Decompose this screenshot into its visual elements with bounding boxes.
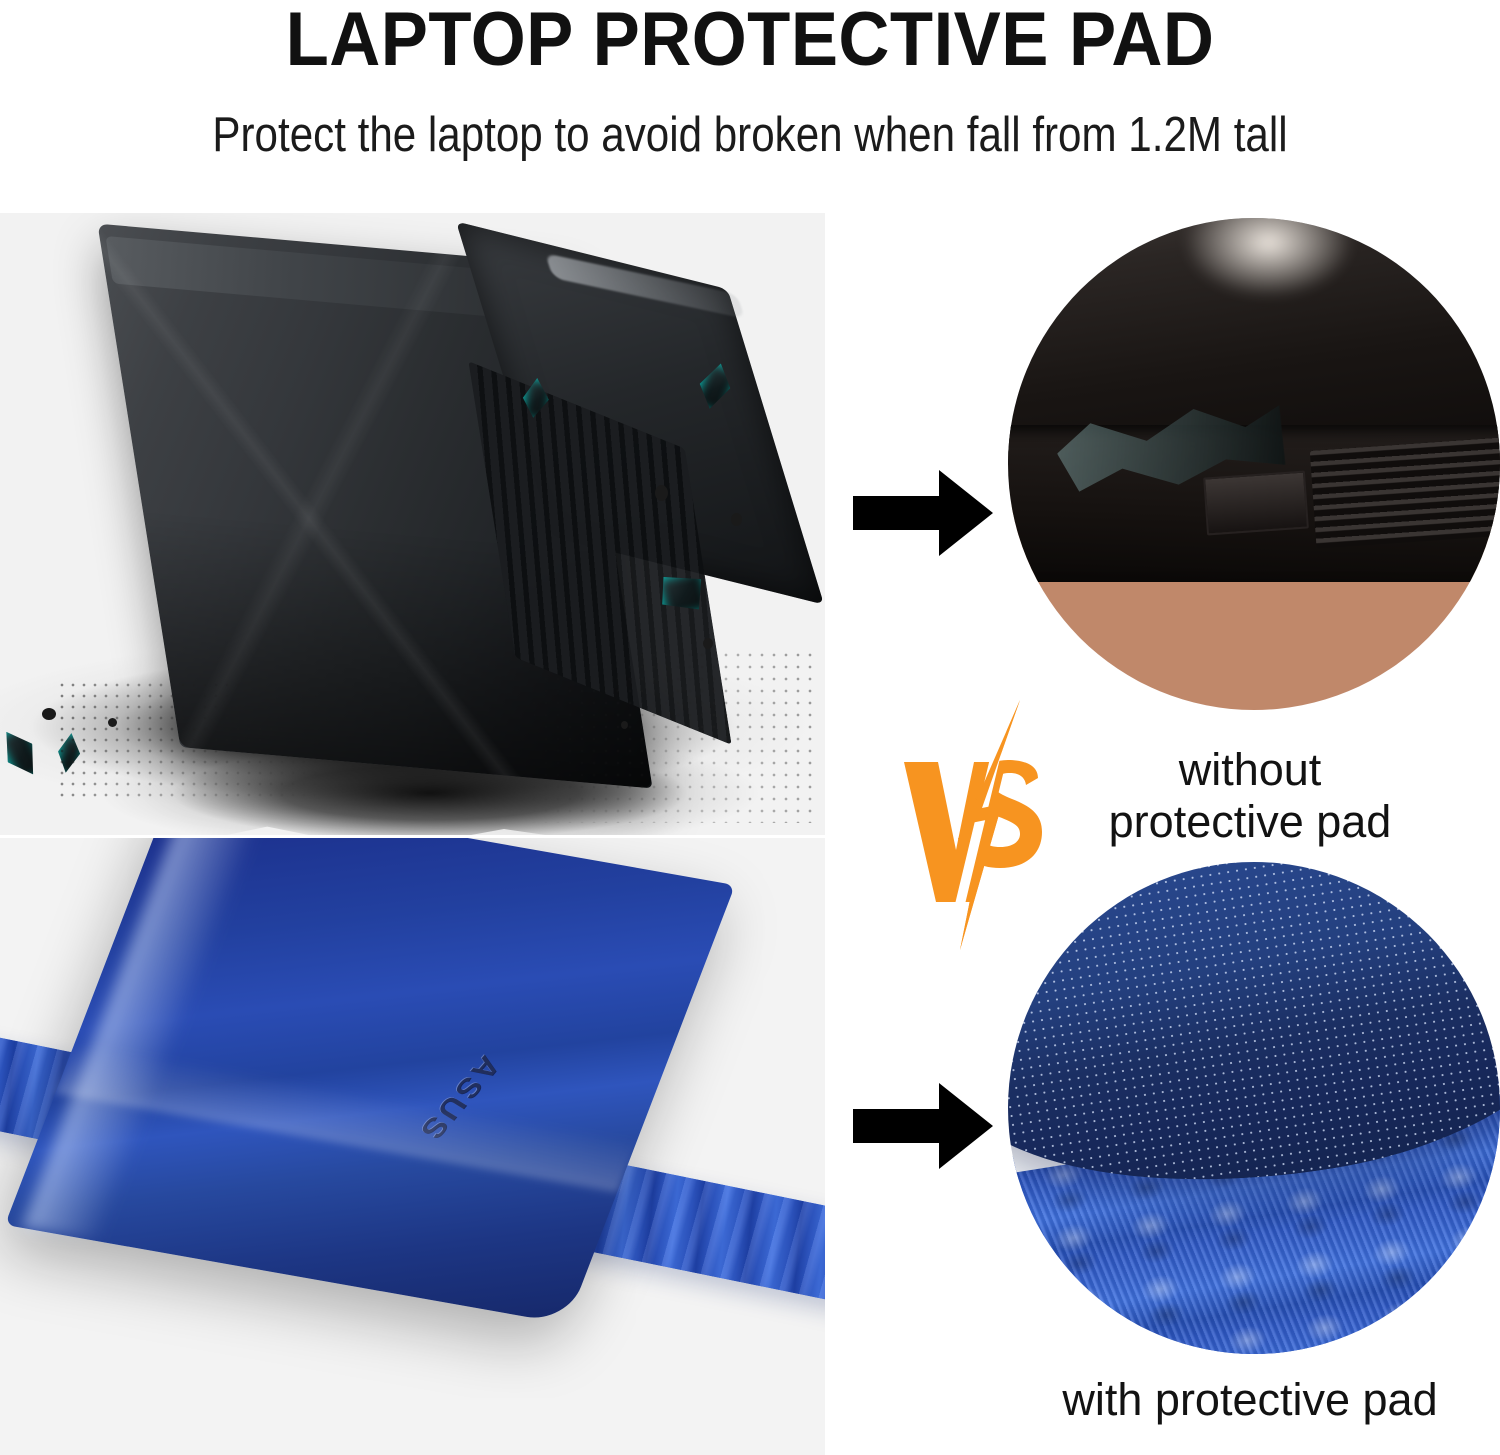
protective-pad-closeup-photo	[1008, 862, 1500, 1354]
right-arrow-icon	[853, 465, 993, 561]
asus-logo: ASUS	[411, 1050, 508, 1147]
debris-speck	[42, 708, 56, 720]
laptop-drop-photo	[0, 213, 825, 835]
pad-closeup-scene	[1008, 862, 1500, 1354]
window-highlight	[1185, 218, 1352, 297]
debris-speck	[655, 485, 668, 501]
page-subtitle: Protect the laptop to avoid broken when …	[105, 104, 1395, 166]
caption-without-line2: protective pad	[1000, 796, 1500, 848]
dust-spray	[520, 653, 820, 823]
broken-laptop-closeup-photo	[1008, 218, 1500, 710]
caption-with-text: with protective pad	[1000, 1374, 1500, 1426]
drop-scene	[0, 213, 825, 835]
laptop-on-pad-photo: ASUS	[0, 838, 825, 1455]
caption-without-pad: without protective pad	[1000, 744, 1500, 848]
caption-with-pad: with protective pad	[1000, 1374, 1500, 1426]
laptop-vent-grill	[1310, 438, 1500, 550]
right-arrow-icon	[853, 1078, 993, 1174]
debris-speck	[731, 513, 742, 526]
pad-scene: ASUS	[0, 838, 825, 1455]
debris-speck	[703, 638, 713, 649]
page-title: LAPTOP PROTECTIVE PAD	[53, 0, 1448, 86]
header: LAPTOP PROTECTIVE PAD Protect the laptop…	[0, 0, 1500, 205]
dust-spray	[60, 683, 320, 803]
broken-laptop-scene	[1008, 218, 1500, 710]
caption-without-line1: without	[1000, 744, 1500, 796]
laptop-port	[1203, 470, 1309, 535]
